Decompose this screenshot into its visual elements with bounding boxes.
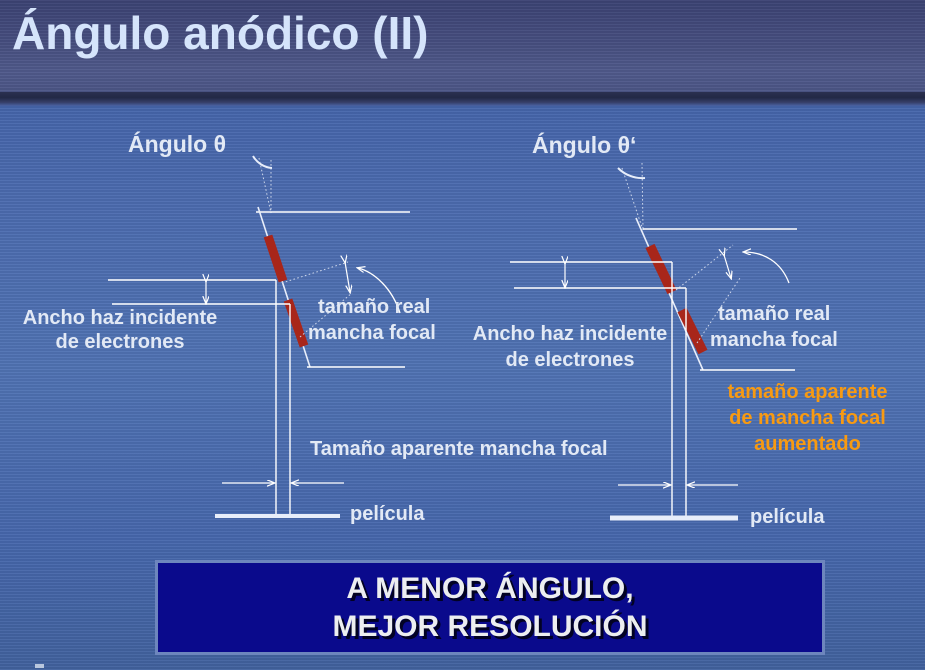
banner-line-2: MEJOR RESOLUCIÓN [332,608,647,646]
left-beam-width-label-line1: Ancho haz incidente [0,306,240,330]
left-angle-label: Ángulo θ [128,132,226,156]
left-real-spot-label-line2: mancha focal [308,321,436,345]
right-real-spot-label-line2: mancha focal [710,328,838,352]
left-real-spot-label-line1: tamaño real [318,295,430,319]
right-angle-label: Ángulo θ‘ [532,133,636,157]
left-apparent-spot-label: Tamaño aparente mancha focal [310,437,608,461]
right-film-label: película [750,505,824,529]
right-apparent-spot-label-line3: aumentado [690,432,925,456]
right-apparent-spot-label-line2: de mancha focal [690,406,925,430]
slide-canvas: Ángulo anódico (II) [0,0,925,670]
conclusion-banner: A MENOR ÁNGULO, MEJOR RESOLUCIÓN [155,560,825,655]
right-beam-width-label-line1: Ancho haz incidente [455,322,685,346]
right-beam-width-label-line2: de electrones [455,348,685,372]
right-apparent-spot-label-line1: tamaño aparente [690,380,925,404]
left-film-label: película [350,502,424,526]
right-real-spot-label-line1: tamaño real [718,302,830,326]
left-beam-width-label-line2: de electrones [0,330,240,354]
stray-artifact-mark [35,664,44,668]
banner-line-1: A MENOR ÁNGULO, [346,570,633,608]
